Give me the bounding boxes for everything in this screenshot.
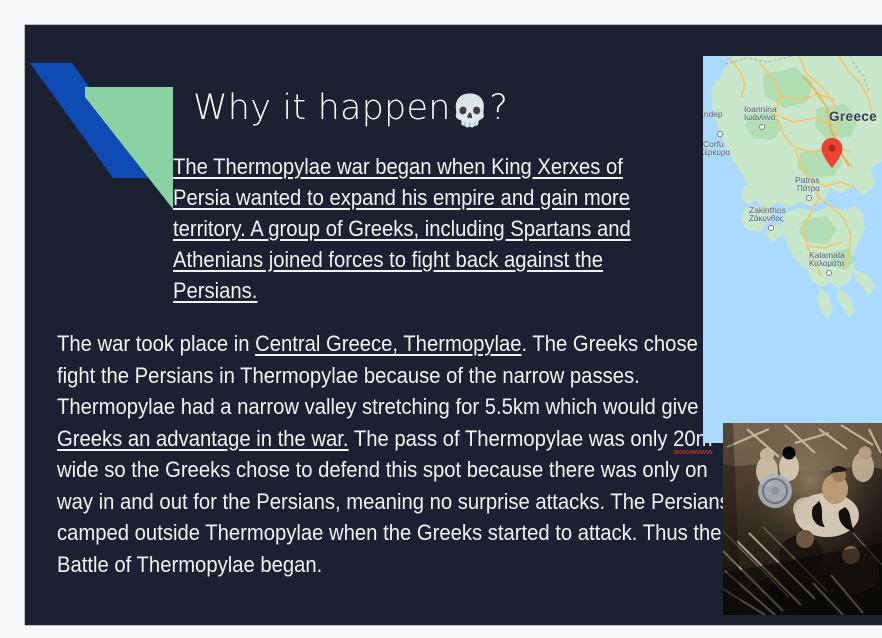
paragraph-intro-text: The Thermopylae war began when King Xerx… (173, 154, 631, 303)
paragraph-details-run-4: The pass of Thermopylae was only (349, 426, 674, 451)
map-city-dot-zakinthos (768, 225, 774, 231)
map-city-dot-corfu (717, 131, 723, 137)
map-label-corfu-greek: Κέρκυρα (703, 148, 730, 157)
paragraph-details-run-0: The war took place in (57, 331, 255, 356)
page-title-suffix: ? (489, 88, 508, 128)
page-title: Why it happen💀? (193, 87, 713, 130)
slide-root: Why it happen💀? The Thermopylae war bega… (0, 0, 882, 638)
skull-emoji-icon: 💀 (451, 93, 490, 129)
map-pin-icon (821, 138, 843, 168)
map-label-patras-greek: Πάτρα (797, 184, 820, 193)
paragraph-details-run-3: Greeks an advantage in the war. (57, 426, 349, 451)
map-label-ioannina-greek: Ιωάννινα (744, 113, 776, 122)
paragraph-details-run-6: wide so the Greeks chose to defend this … (57, 457, 730, 577)
battle-painting-image (723, 423, 882, 615)
map-label-kalamata-greek: Καλαμάτα (809, 259, 844, 268)
paragraph-details-run-1: Central Greece, Thermopylae (255, 331, 521, 356)
map-label-andep: andep (703, 109, 723, 119)
paragraph-details: The war took place in Central Greece, Th… (57, 328, 741, 580)
map-city-dot-kalamata (826, 270, 832, 276)
paragraph-intro: The Thermopylae war began when King Xerx… (173, 151, 641, 306)
map-label-greece: Greece (829, 109, 877, 124)
painting-graphic (723, 423, 882, 615)
map-of-greece-image: andep Ioannina Ιωάννινα Corfu Κέρκυρα Gr… (703, 56, 882, 443)
map-city-dot-ioannina (759, 124, 765, 130)
presentation-slide: Why it happen💀? The Thermopylae war bega… (25, 25, 882, 625)
page-title-text: Why it happen (193, 88, 451, 128)
map-city-dot-patras (806, 195, 812, 201)
map-label-zakinthos-greek: Ζάκυνθος (749, 214, 784, 223)
blue-parallelogram (25, 63, 155, 188)
